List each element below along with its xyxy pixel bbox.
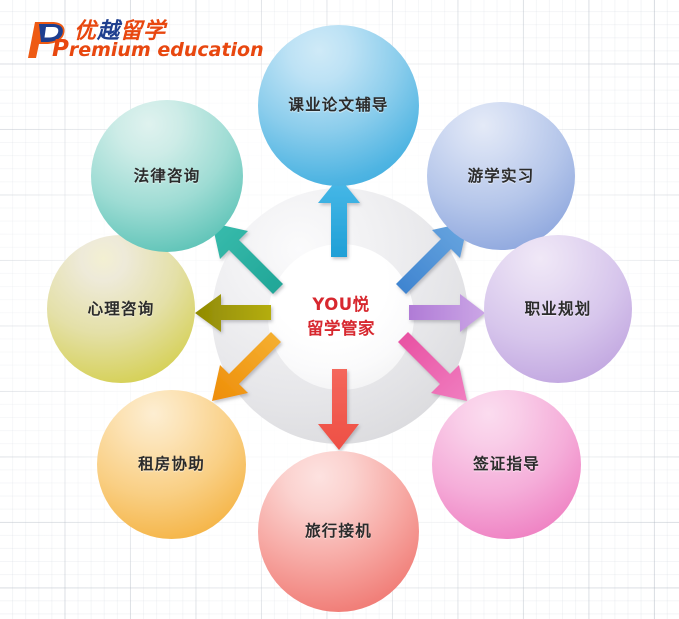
bubble-label: 法律咨询 xyxy=(128,167,207,186)
bubble-label: 游学实习 xyxy=(462,167,541,186)
bubble-label: 课业论文辅导 xyxy=(282,96,394,115)
logo-english-text: Premium education xyxy=(52,36,264,62)
bubble-label: 租房协助 xyxy=(132,455,211,474)
bubble-label: 旅行接机 xyxy=(299,522,378,541)
bubble-label: 心理咨询 xyxy=(82,300,161,319)
hub-title-line1: YOU悦 xyxy=(312,295,369,316)
hub-title-line2: 留学管家 xyxy=(307,319,375,340)
bubble-label: 职业规划 xyxy=(519,300,598,319)
brand-logo[interactable]: 优越留学 Premium education xyxy=(22,12,262,60)
service-bubble-legal-consultation[interactable]: 法律咨询 xyxy=(91,100,243,252)
service-bubble-visa-guidance[interactable]: 签证指导 xyxy=(432,390,581,539)
arrow-to-bubble-6 xyxy=(195,294,271,332)
service-bubble-study-tour-internship[interactable]: 游学实习 xyxy=(427,102,575,250)
service-bubble-travel-pickup[interactable]: 旅行接机 xyxy=(258,451,419,612)
service-bubble-housing-assistance[interactable]: 租房协助 xyxy=(97,390,246,539)
service-bubble-course-paper-tutoring[interactable]: 课业论文辅导 xyxy=(258,25,419,186)
hub-title: YOU悦 留学管家 xyxy=(268,244,414,390)
service-bubble-psychological-counseling[interactable]: 心理咨询 xyxy=(47,235,195,383)
arrow-to-bubble-2 xyxy=(409,294,485,332)
diagram-canvas: 优越留学 Premium education xyxy=(0,0,679,619)
service-bubble-career-planning[interactable]: 职业规划 xyxy=(484,235,632,383)
bubble-label: 签证指导 xyxy=(467,455,546,474)
